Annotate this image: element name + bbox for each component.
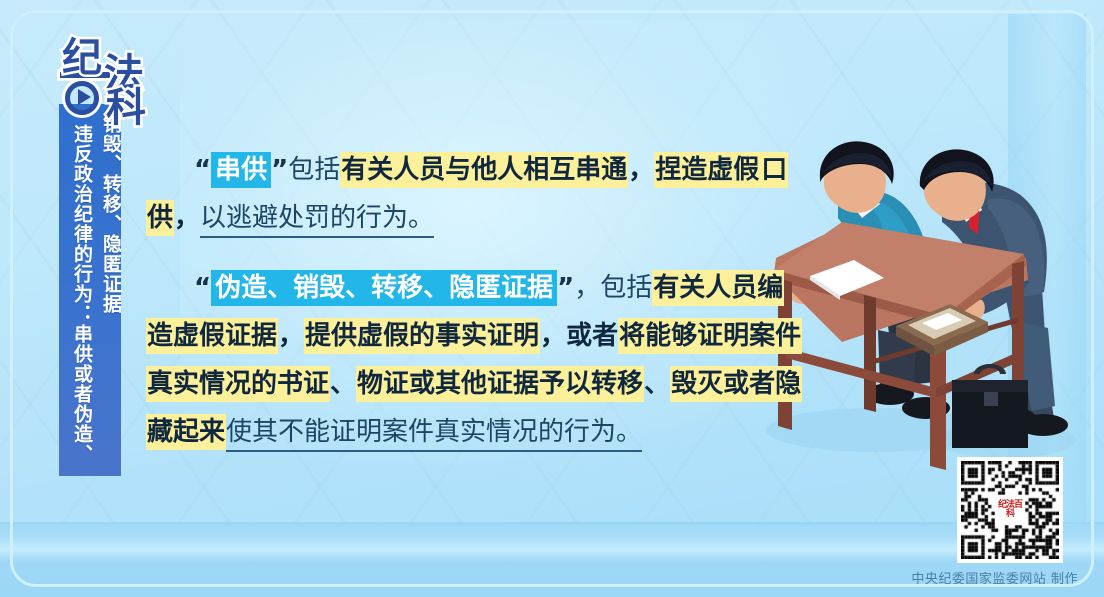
p1-highlight-b: 捏造虚假 [654,152,760,188]
p2-open-quote: “ [194,273,211,303]
p2-punct-c: ， [540,321,566,351]
p2-punct-a: ， [574,273,600,303]
p1-lead: 包括 [288,155,340,185]
p1-punct-b: ， [174,203,200,233]
illustration-two-men-at-desk [756,130,1104,500]
footer-credit: 中央纪委国家监委网站 制作 [911,568,1078,587]
p2-mid: 或者 [566,321,618,351]
banner-column-left: 违反政治纪律的行为：串供或者伪造、 [63,110,92,464]
p1-punct-a: ， [628,155,654,185]
p1-term-highlight: 串供 [211,152,271,188]
p1-tail: 以逃避处罚的行为。 [200,203,434,238]
qr-center-logo: 纪法百科 [995,495,1025,525]
p2-sep-a: 、 [330,369,356,399]
play-icon-triangle [78,89,91,105]
p2-term-highlight: 伪造、销毁、转移、隐匿证据 [211,270,557,306]
banner-column-right: 销毁、转移、隐匿证据 [92,110,121,314]
p2-close-quote: ” [557,273,574,303]
p2-tail: 使其不能证明案件真实情况的行为。 [226,417,642,452]
p1-highlight-a: 有关人员与他人相互串通 [340,152,628,188]
qr-code[interactable]: 纪法百科 [957,457,1063,563]
main-copy: “串供”包括有关人员与他人相互串通，捏造虚假口供，以逃避处罚的行为。 “伪造、销… [146,146,806,456]
p2-highlight-d: 物证或其他证据予以转移 [356,366,644,402]
logo-char-ke: 科 [106,88,146,128]
poster-canvas: 纪 法 科 销毁、转移、隐匿证据 违反政治纪律的行为：串供或者伪造、 [0,0,1104,597]
p2-sep-b: 、 [644,369,670,399]
paragraph-2: “伪造、销毁、转移、隐匿证据”，包括有关人员编造虚假证据，提供虚假的事实证明，或… [146,264,806,456]
p2-lead: 包括 [600,273,652,303]
paragraph-1: “串供”包括有关人员与他人相互串通，捏造虚假口供，以逃避处罚的行为。 [146,146,806,242]
p2-punct-b: ， [278,321,304,351]
p1-open-quote: “ [194,155,211,185]
logo-char-ji: 纪 [62,38,102,78]
brand-logo: 纪 法 科 [56,36,164,126]
left-title-banner-text: 销毁、转移、隐匿证据 违反政治纪律的行为：串供或者伪造、 [59,104,121,476]
p1-close-quote: ” [271,155,288,185]
p2-highlight-b: 提供虚假的事实证明 [304,318,540,354]
